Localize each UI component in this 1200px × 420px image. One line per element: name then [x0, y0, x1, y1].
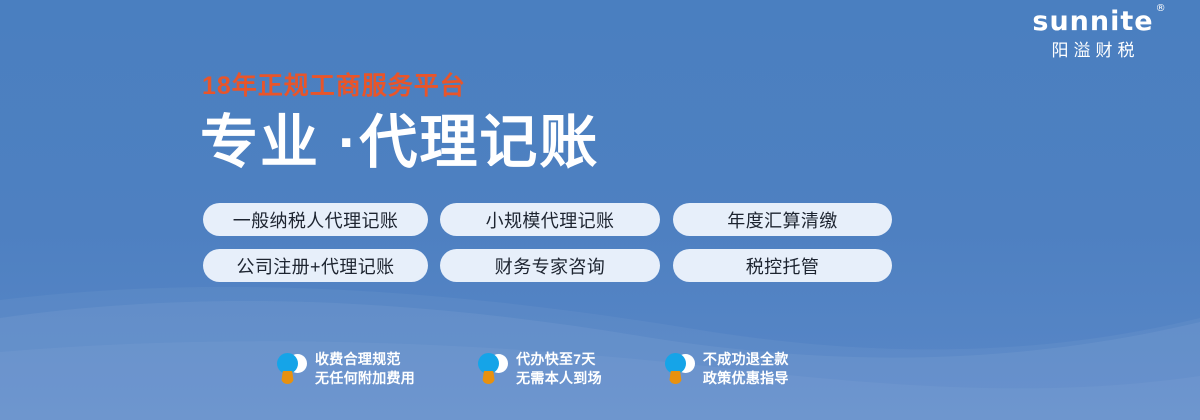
promo-banner: sunnite ® 阳溢财税 18年正规工商服务平台 专业 ·代理记账 一般纳税…: [0, 0, 1200, 420]
feature-text: 不成功退全款 政策优惠指导: [703, 350, 789, 388]
feature-text: 代办快至7天 无需本人到场: [516, 350, 602, 388]
logo-wordmark-text: sunnite: [1032, 6, 1153, 37]
service-pill-tax-control-hosting[interactable]: 税控托管: [673, 249, 892, 282]
service-pill-grid: 一般纳税人代理记账 小规模代理记账 年度汇算清缴 公司注册+代理记账 财务专家咨…: [203, 203, 892, 282]
lightbulb-icon: [477, 351, 507, 387]
service-pill-small-scale-bookkeeping[interactable]: 小规模代理记账: [440, 203, 660, 236]
feature-line-1: 代办快至7天: [516, 350, 602, 369]
feature-item-guarantee: 不成功退全款 政策优惠指导: [664, 350, 789, 388]
brand-logo[interactable]: sunnite ® 阳溢财税: [1008, 8, 1178, 59]
registered-trademark-icon: ®: [1156, 4, 1167, 14]
feature-line-2: 无需本人到场: [516, 369, 602, 388]
service-pill-finance-expert-consulting[interactable]: 财务专家咨询: [440, 249, 660, 282]
lightbulb-icon: [664, 351, 694, 387]
service-pill-general-taxpayer-bookkeeping[interactable]: 一般纳税人代理记账: [203, 203, 428, 236]
service-pill-annual-settlement[interactable]: 年度汇算清缴: [673, 203, 892, 236]
feature-line-2: 政策优惠指导: [703, 369, 789, 388]
feature-highlight-list: 收费合理规范 无任何附加费用 代办快至7天 无需本人到场 不成功退全款: [276, 350, 789, 388]
feature-line-2: 无任何附加费用: [315, 369, 415, 388]
service-pill-company-registration-bookkeeping[interactable]: 公司注册+代理记账: [203, 249, 428, 282]
feature-text: 收费合理规范 无任何附加费用: [315, 350, 415, 388]
hero-kicker: 18年正规工商服务平台: [202, 74, 466, 99]
feature-line-1: 不成功退全款: [703, 350, 789, 369]
feature-item-speed: 代办快至7天 无需本人到场: [477, 350, 602, 388]
logo-wordmark: sunnite ®: [1032, 8, 1153, 35]
feature-line-1: 收费合理规范: [315, 350, 415, 369]
page-title: 专业 ·代理记账: [200, 110, 599, 177]
logo-chinese-name: 阳溢财税: [1008, 42, 1178, 59]
lightbulb-icon: [276, 351, 306, 387]
feature-item-pricing: 收费合理规范 无任何附加费用: [276, 350, 415, 388]
